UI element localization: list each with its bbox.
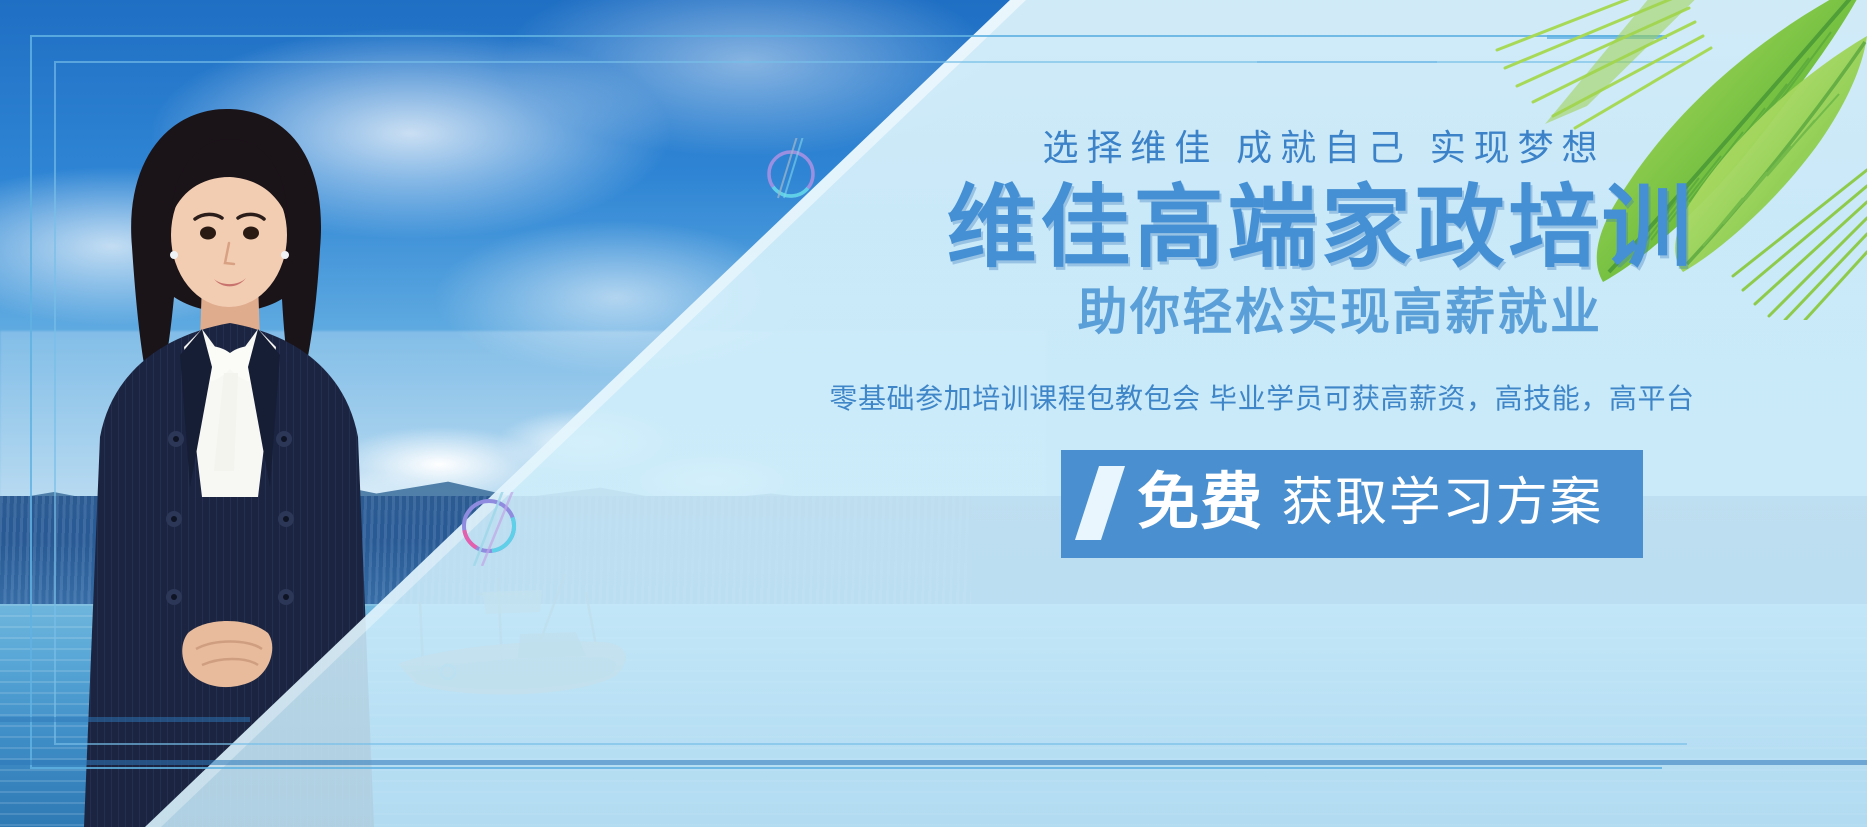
cta-highlight-label: 免费 bbox=[1137, 472, 1263, 534]
get-free-study-plan-button[interactable]: 免费 获取学习方案 bbox=[1061, 450, 1643, 558]
frame-bottom-bar bbox=[0, 760, 1867, 765]
slash-accent-icon bbox=[1075, 466, 1125, 540]
banner-subheadline: 助你轻松实现高薪就业 bbox=[873, 285, 1807, 340]
ring-ornament-icon bbox=[452, 492, 526, 566]
banner-description: 零基础参加培训课程包教包会 毕业学员可获高薪资，高技能，高平台 bbox=[717, 382, 1807, 416]
banner-content: 选择维佳 成就自己 实现梦想 维佳高端家政培训 助你轻松实现高薪就业 零基础参加… bbox=[777, 130, 1807, 558]
banner-tagline: 选择维佳 成就自己 实现梦想 bbox=[841, 130, 1807, 166]
promo-banner: 选择维佳 成就自己 实现梦想 维佳高端家政培训 助你轻松实现高薪就业 零基础参加… bbox=[0, 0, 1867, 827]
cta-label: 获取学习方案 bbox=[1282, 477, 1603, 529]
banner-headline: 维佳高端家政培训 bbox=[835, 180, 1807, 277]
frame-bottom-bar-short bbox=[0, 717, 250, 722]
